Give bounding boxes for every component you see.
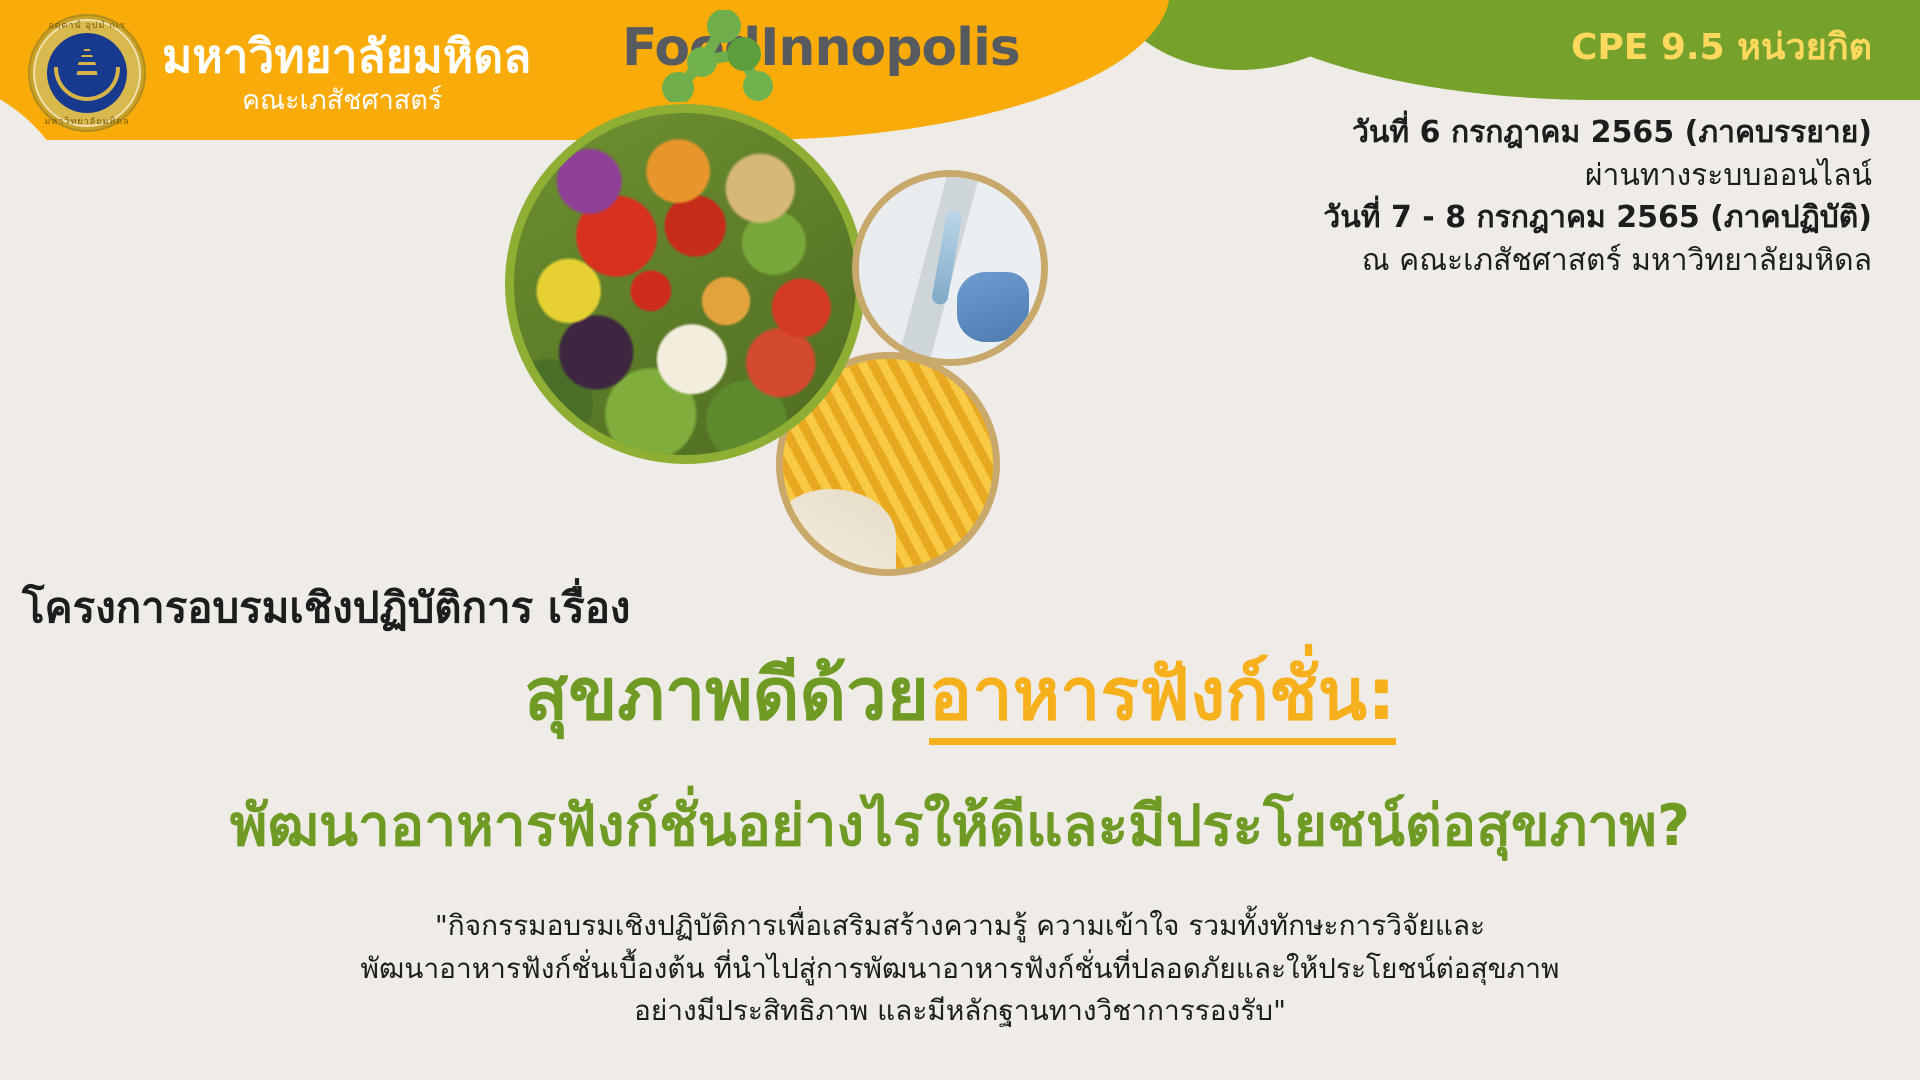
vegetables-photo-circle — [505, 104, 865, 464]
molecule-icon — [660, 10, 782, 102]
lab-photo — [859, 177, 1041, 359]
schedule-line: วันที่ 6 กรกฎาคม 2565 (ภาคบรรยาย) — [1323, 112, 1872, 155]
main-title-green-part: สุขภาพดีด้วย — [524, 652, 929, 736]
cpe-credit-badge: CPE 9.5 หน่วยกิต — [1571, 18, 1872, 75]
schedule-line: ณ คณะเภสัชศาสตร์ มหาวิทยาลัยมหิดล — [1323, 240, 1872, 283]
schedule-block: วันที่ 6 กรกฎาคม 2565 (ภาคบรรยาย) ผ่านทา… — [1323, 112, 1872, 282]
description-line: อย่างมีประสิทธิภาพ และมีหลักฐานทางวิชากา… — [250, 990, 1670, 1033]
mahidol-seal-icon: อตฺตานํ อุปมํ กเร มหาวิทยาลัยมหิดล — [28, 14, 146, 132]
vegetables-photo — [514, 113, 856, 455]
seal-bottom-text: มหาวิทยาลัยมหิดล — [28, 114, 146, 128]
lab-photo-circle — [852, 170, 1048, 366]
main-title-orange-part: อาหารฟังก์ชั่น: — [929, 652, 1396, 745]
main-subtitle: พัฒนาอาหารฟังก์ชั่นอย่างไรให้ดีและมีประโ… — [0, 795, 1920, 858]
schedule-line: วันที่ 7 - 8 กรกฎาคม 2565 (ภาคปฏิบัติ) — [1323, 197, 1872, 240]
mahidol-logo-block: อตฺตานํ อุปมํ กเร มหาวิทยาลัยมหิดล มหาวิ… — [28, 14, 531, 132]
seal-top-text: อตฺตานํ อุปมํ กเร — [28, 18, 146, 32]
foodinnopolis-logo: FoodInnopolis — [622, 12, 1022, 96]
main-title: สุขภาพดีด้วยอาหารฟังก์ชั่น: — [0, 655, 1920, 734]
university-name: มหาวิทยาลัยมหิดล — [162, 33, 531, 79]
description-line: "กิจกรรมอบรมเชิงปฏิบัติการเพื่อเสริมสร้า… — [250, 905, 1670, 948]
schedule-line: ผ่านทางระบบออนไลน์ — [1323, 155, 1872, 198]
description-block: "กิจกรรมอบรมเชิงปฏิบัติการเพื่อเสริมสร้า… — [250, 905, 1670, 1033]
description-line: พัฒนาอาหารฟังก์ชั่นเบื้องต้น ที่นำไปสู่ก… — [250, 948, 1670, 991]
program-kicker: โครงการอบรมเชิงปฏิบัติการ เรื่อง — [22, 575, 630, 641]
university-text-block: มหาวิทยาลัยมหิดล คณะเภสัชศาสตร์ — [162, 33, 531, 114]
faculty-name: คณะเภสัชศาสตร์ — [242, 87, 531, 114]
seal-emblem — [47, 33, 127, 113]
